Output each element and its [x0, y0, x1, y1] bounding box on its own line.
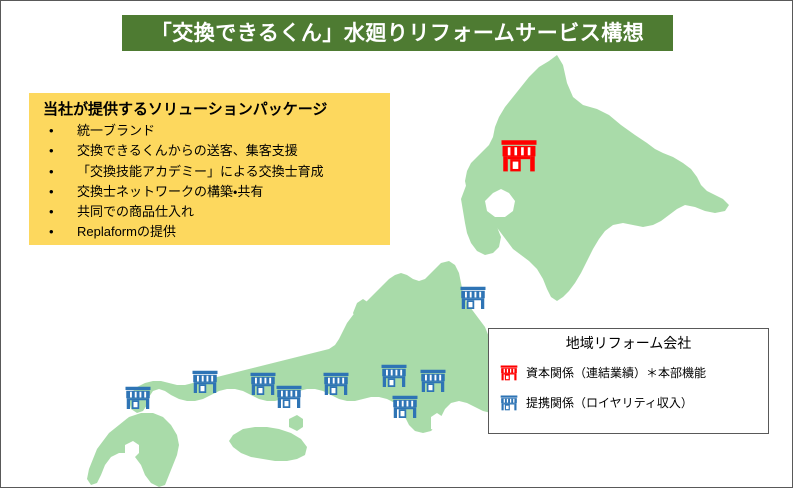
page-title: 「交換できるくん」水廻りリフォームサービス構想 — [151, 23, 644, 44]
store-icon — [123, 383, 153, 413]
map-region-honshu — [129, 261, 507, 433]
list-item: • 共同での商品仕入れ — [39, 202, 380, 222]
legend-label-alliance: 提携関係（ロイヤリティ収入） — [526, 394, 693, 411]
legend-title: 地域リフォーム会社 — [489, 335, 768, 353]
map-legend: 地域リフォーム会社 資本関係（連結業績）＊本部機能 提携関係（ロイヤリティ収入） — [488, 328, 769, 434]
list-item: • 「交換技能アカデミー」による交換士育成 — [39, 162, 380, 182]
store-icon — [379, 361, 409, 391]
list-item-label: 共同での商品仕入れ — [77, 204, 194, 219]
map-region-hokkaido — [465, 55, 729, 301]
list-item: • 交換士ネットワークの構築・共有 — [39, 182, 380, 202]
bullet-icon: • — [49, 182, 54, 202]
solution-package-box: 当社が提供するソリューションパッケージ • 統一ブランド • 交換できるくんから… — [29, 93, 390, 245]
store-icon — [390, 392, 420, 422]
store-icon — [458, 283, 488, 313]
slide-title-bar: 「交換できるくん」水廻りリフォームサービス構想 — [122, 15, 673, 51]
presentation-slide: 「交換できるくん」水廻りリフォームサービス構想 — [0, 0, 793, 488]
store-icon — [274, 382, 304, 412]
list-item: • Replaformの提供 — [39, 222, 380, 242]
store-icon — [190, 367, 220, 397]
store-icon — [499, 393, 519, 413]
map-detail-awaji — [289, 415, 303, 431]
list-item: • 交換できるくんからの送客、集客支援 — [39, 141, 380, 161]
bullet-icon: • — [49, 202, 54, 222]
list-item-label: 統一ブランド — [77, 123, 155, 138]
list-item-label: 「交換技能アカデミー」による交換士育成 — [77, 164, 324, 179]
store-icon — [321, 369, 351, 399]
bullet-icon: • — [49, 121, 54, 141]
store-icon — [418, 366, 448, 396]
store-icon — [498, 135, 540, 177]
bullet-icon: • — [49, 222, 54, 242]
list-item-label: 交換士ネットワークの構築・共有 — [77, 184, 263, 199]
bullet-icon: • — [49, 141, 54, 161]
solution-package-heading: 当社が提供するソリューションパッケージ — [43, 101, 380, 118]
store-icon — [499, 363, 519, 383]
legend-row-capital: 資本関係（連結業績）＊本部機能 — [489, 358, 768, 388]
map-region-shikoku — [229, 427, 307, 461]
legend-label-capital: 資本関係（連結業績）＊本部機能 — [526, 364, 706, 381]
legend-row-alliance: 提携関係（ロイヤリティ収入） — [489, 388, 768, 418]
bullet-icon: • — [49, 162, 54, 182]
solution-package-list: • 統一ブランド • 交換できるくんからの送客、集客支援 • 「交換技能アカデミ… — [39, 121, 380, 242]
list-item-label: 交換できるくんからの送客、集客支援 — [77, 143, 298, 158]
list-item-label: Replaformの提供 — [77, 224, 176, 239]
list-item: • 統一ブランド — [39, 121, 380, 141]
